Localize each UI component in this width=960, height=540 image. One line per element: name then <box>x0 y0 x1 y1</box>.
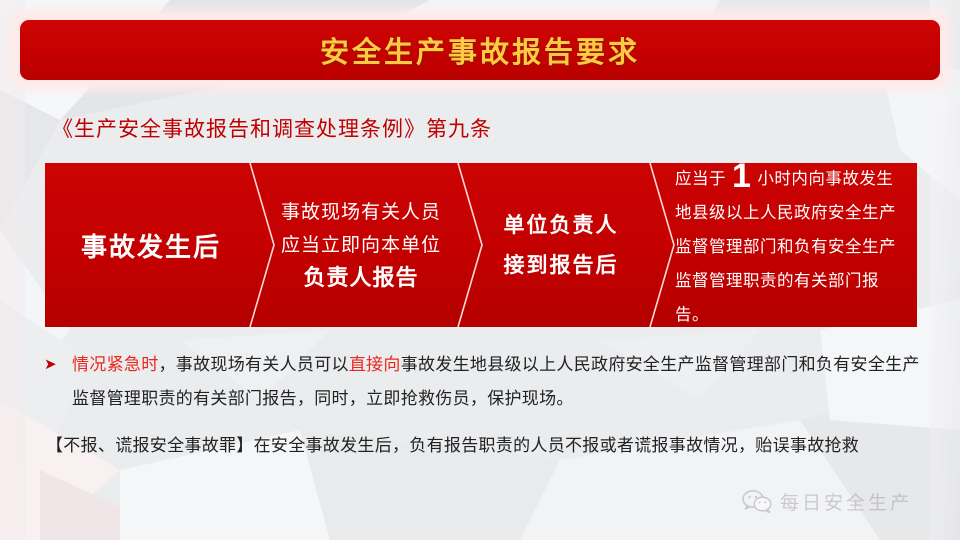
bullet-note-text: 情况紧急时，事故现场有关人员可以直接向事故发生地县级以上人民政府安全生产监督管理… <box>72 348 928 416</box>
watermark-label: 每日安全生产 <box>780 488 912 515</box>
step-3-line-1: 单位负责人 <box>504 205 619 245</box>
process-step-1: 事故发生后 <box>45 163 257 327</box>
step-3-line-2: 接到报告后 <box>504 245 619 285</box>
step-1-line-1: 事故发生后 <box>81 227 221 264</box>
regulation-subtitle: 《生产安全事故报告和调查处理条例》第九条 <box>52 113 492 143</box>
wechat-icon <box>742 490 772 514</box>
page-title: 安全生产事故报告要求 <box>320 29 640 71</box>
crime-clause-paragraph: 【不报、谎报安全事故罪】在安全事故发生后，负有报告职责的人员不报或者谎报事故情况… <box>46 428 926 464</box>
process-step-4: 应当于1小时内向事故发生地县级以上人民政府安全生产监督管理部门和负有安全生产监督… <box>657 163 917 327</box>
process-flow-band: 事故发生后 事故现场有关人员 应当立即向本单位 负责人报告 单位负责人 接到报告… <box>45 163 917 327</box>
bullet-note: ➤ 情况紧急时，事故现场有关人员可以直接向事故发生地县级以上人民政府安全生产监督… <box>42 348 928 416</box>
step-4-suffix: 小时内向事故发生地县级以上人民政府安全生产监督管理部门和负有安全生产监督管理职责… <box>675 169 896 324</box>
step-2-line-1: 事故现场有关人员 <box>281 196 441 229</box>
title-banner: 安全生产事故报告要求 <box>20 20 940 80</box>
bullet-arrow-icon: ➤ <box>42 348 72 382</box>
step-2-line-3: 负责人报告 <box>303 262 418 295</box>
step-4-prefix: 应当于 <box>675 169 726 188</box>
step-4-paragraph: 应当于1小时内向事故发生地县级以上人民政府安全生产监督管理部门和负有安全生产监督… <box>675 163 903 327</box>
step-4-hour-number: 1 <box>726 163 757 195</box>
slide-canvas: 安全生产事故报告要求 《生产安全事故报告和调查处理条例》第九条 事故发生后 事故… <box>0 0 960 540</box>
bullet-highlight-2: 直接向 <box>349 355 401 375</box>
bullet-highlight-1: 情况紧急时 <box>72 355 159 375</box>
step-2-line-2: 应当立即向本单位 <box>281 229 441 262</box>
watermark: 每日安全生产 <box>742 488 912 515</box>
process-step-2: 事故现场有关人员 应当立即向本单位 负责人报告 <box>257 163 465 327</box>
process-step-3: 单位负责人 接到报告后 <box>465 163 657 327</box>
bullet-mid-1: ，事故现场有关人员可以 <box>159 355 349 375</box>
